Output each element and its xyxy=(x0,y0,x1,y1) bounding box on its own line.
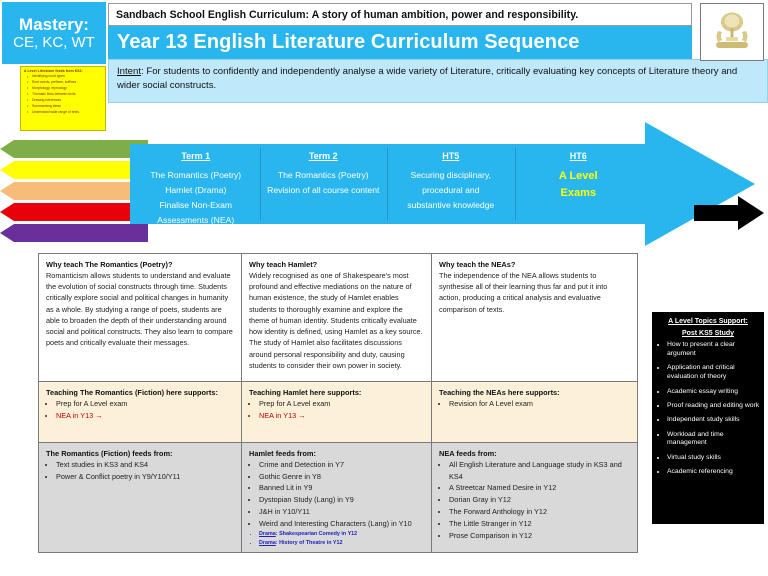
timeline-column-line: procedural and xyxy=(419,183,482,198)
support-panel-item: Proof reading and editing work xyxy=(667,402,760,411)
feeds-from-item: Dorian Gray in Y12 xyxy=(449,494,630,506)
feeds-from-row: The Romantics (Fiction) feeds from:Text … xyxy=(39,443,637,552)
intent-panel: Intent: For students to confidently and … xyxy=(108,59,768,103)
support-panel-item: Virtual study skills xyxy=(667,454,760,463)
feeds-from-item: Banned Lit in Y9 xyxy=(259,482,424,494)
supports-title: Teaching the NEAs here supports: xyxy=(439,388,630,397)
ks2-feeds-list: Identifying word typesRoot words, prefix… xyxy=(23,74,103,116)
ks2-feeds-box: A Level Literature feeds from KS2: Ident… xyxy=(20,66,106,131)
feeds-from-item: Gothic Genre in Y8 xyxy=(259,471,424,483)
supports-item: NEA in Y13 → xyxy=(56,410,234,422)
feeds-from-item: A Streetcar Named Desire in Y12 xyxy=(449,482,630,494)
curriculum-strapline: Sandbach School English Curriculum: A st… xyxy=(108,3,692,26)
why-teach-title: Why teach the NEAs? xyxy=(439,260,630,269)
timeline-column-ht5: HT5Securing disciplinary,procedural ands… xyxy=(387,146,515,224)
timeline-column-term-1: Term 1The Romantics (Poetry)Hamlet (Dram… xyxy=(132,146,260,224)
supports-cell: Teaching Hamlet here supports:Prep for A… xyxy=(241,382,431,442)
a-level-topics-support-panel: A Level Topics Support: Post KS5 Study H… xyxy=(652,312,764,524)
mastery-block: Mastery: CE, KC, WT xyxy=(2,2,106,64)
why-teach-row: Why teach The Romantics (Poetry)?Romanti… xyxy=(39,254,637,381)
why-teach-cell: Why teach Hamlet?Widely recognised as on… xyxy=(241,254,431,381)
feeds-from-list: Text studies in KS3 and KS4Power & Confl… xyxy=(46,459,234,483)
support-panel-title-line2: Post KS5 Study xyxy=(656,329,760,339)
supports-title: Teaching The Romantics (Fiction) here su… xyxy=(46,388,234,397)
red-arrow xyxy=(0,203,148,221)
supports-item: Revision for A Level exam xyxy=(449,398,630,410)
school-crest-icon xyxy=(700,3,764,61)
why-teach-body: Romanticism allows students to understan… xyxy=(46,270,234,349)
timeline-column-line: Exams xyxy=(558,185,599,202)
feeds-from-item: The Little Stranger in Y12 xyxy=(449,518,630,530)
supports-list: Prep for A Level examNEA in Y13 → xyxy=(249,398,424,422)
timeline-band: Term 1The Romantics (Poetry)Hamlet (Dram… xyxy=(132,146,642,224)
feeds-from-item: All English Literature and Language stud… xyxy=(449,459,630,483)
support-panel-item: Academic referencing xyxy=(667,468,760,477)
timeline-column-head: Term 1 xyxy=(181,151,210,161)
mastery-subtitle: CE, KC, WT xyxy=(13,35,95,51)
supports-cell: Teaching The Romantics (Fiction) here su… xyxy=(39,382,241,442)
content-grid: Why teach The Romantics (Poetry)?Romanti… xyxy=(38,253,638,553)
curriculum-poster: Mastery: CE, KC, WT A Level Literature f… xyxy=(0,0,768,576)
feeds-from-item: J&H in Y10/Y11 xyxy=(259,506,424,518)
feeds-from-cell: Hamlet feeds from:Crime and Detection in… xyxy=(241,443,431,552)
yellow-arrow xyxy=(0,161,148,179)
ks2-feeds-title: A Level Literature feeds from KS2: xyxy=(24,69,103,73)
why-teach-cell: Why teach The Romantics (Poetry)?Romanti… xyxy=(39,254,241,381)
why-teach-title: Why teach Hamlet? xyxy=(249,260,424,269)
support-panel-title-line1: A Level Topics Support: xyxy=(656,317,760,327)
timeline-column-line: Hamlet (Drama) xyxy=(162,183,229,198)
feeds-from-item: The Forward Anthology in Y12 xyxy=(449,506,630,518)
feeds-from-title: Hamlet feeds from: xyxy=(249,449,424,458)
timeline-column-line: substantive knowledge xyxy=(404,198,497,213)
feeds-from-item: Text studies in KS3 and KS4 xyxy=(56,459,234,471)
support-panel-item: Workload and time management xyxy=(667,431,760,449)
timeline-column-head: HT5 xyxy=(442,151,459,161)
support-panel-item: Academic essay writing xyxy=(667,388,760,397)
supports-list: Prep for A Level examNEA in Y13 → xyxy=(46,398,234,422)
feeds-from-link[interactable]: Drama: History of Theatre in Y12 xyxy=(259,539,424,548)
timeline-column-line: The Romantics (Poetry) xyxy=(147,168,244,183)
support-panel-list: How to present a clear argumentApplicati… xyxy=(656,341,760,477)
green-arrow xyxy=(0,140,148,158)
timeline-column-line: Revision of all course content xyxy=(264,183,382,198)
supports-cell: Teaching the NEAs here supports:Revision… xyxy=(431,382,637,442)
feeder-arrow-stack xyxy=(0,140,150,248)
timeline-column-line: A Level xyxy=(556,168,601,185)
supports-item: Prep for A Level exam xyxy=(259,398,424,410)
support-panel-item: Application and critical evaluation of t… xyxy=(667,364,760,382)
ks2-feed-item: Understand wide range of texts xyxy=(32,110,103,116)
intent-label: Intent xyxy=(117,66,141,77)
timeline-column-line: Securing disciplinary, xyxy=(407,168,494,183)
mastery-title: Mastery: xyxy=(19,16,89,34)
feeds-from-title: The Romantics (Fiction) feeds from: xyxy=(46,449,234,458)
orange-arrow xyxy=(0,182,148,200)
supports-item: NEA in Y13 → xyxy=(259,410,424,422)
feeds-from-link[interactable]: Drama: Shakespearian Comedy in Y12 xyxy=(259,530,424,539)
page-title: Year 13 English Literature Curriculum Se… xyxy=(108,26,692,59)
intent-text: : For students to confidently and indepe… xyxy=(117,66,737,91)
timeline-column-head: Term 2 xyxy=(309,151,338,161)
timeline-column-line: Finalise Non-Exam Assessments (NEA) xyxy=(132,198,260,228)
feeds-from-item: Crime and Detection in Y7 xyxy=(259,459,424,471)
supports-row: Teaching The Romantics (Fiction) here su… xyxy=(39,381,637,443)
feeds-from-list: Crime and Detection in Y7Gothic Genre in… xyxy=(249,459,424,548)
support-panel-item: How to present a clear argument xyxy=(667,341,760,359)
feeds-from-item: Power & Conflict poetry in Y9/Y10/Y11 xyxy=(56,471,234,483)
supports-title: Teaching Hamlet here supports: xyxy=(249,388,424,397)
timeline-column-term-2: Term 2The Romantics (Poetry)Revision of … xyxy=(260,146,388,224)
feeds-from-title: NEA feeds from: xyxy=(439,449,630,458)
timeline-column-line: The Romantics (Poetry) xyxy=(275,168,372,183)
why-teach-body: Widely recognised as one of Shakespeare'… xyxy=(249,270,424,371)
support-panel-item: Independent study skills xyxy=(667,416,760,425)
timeline-column-ht6: HT6A LevelExams xyxy=(515,146,643,224)
why-teach-cell: Why teach the NEAs?The independence of t… xyxy=(431,254,637,381)
feeds-from-cell: NEA feeds from:All English Literature an… xyxy=(431,443,637,552)
why-teach-body: The independence of the NEA allows stude… xyxy=(439,270,630,315)
feeds-from-cell: The Romantics (Fiction) feeds from:Text … xyxy=(39,443,241,552)
supports-list: Revision for A Level exam xyxy=(439,398,630,410)
feeds-from-list: All English Literature and Language stud… xyxy=(439,459,630,542)
timeline-column-head: HT6 xyxy=(570,151,587,161)
feeds-from-item: Prose Comparison in Y12 xyxy=(449,530,630,542)
why-teach-title: Why teach The Romantics (Poetry)? xyxy=(46,260,234,269)
supports-item: Prep for A Level exam xyxy=(56,398,234,410)
feeds-from-item: Weird and Interesting Characters (Lang) … xyxy=(259,518,424,530)
feeds-from-item: Dystopian Study (Lang) in Y9 xyxy=(259,494,424,506)
purple-arrow xyxy=(0,224,148,242)
